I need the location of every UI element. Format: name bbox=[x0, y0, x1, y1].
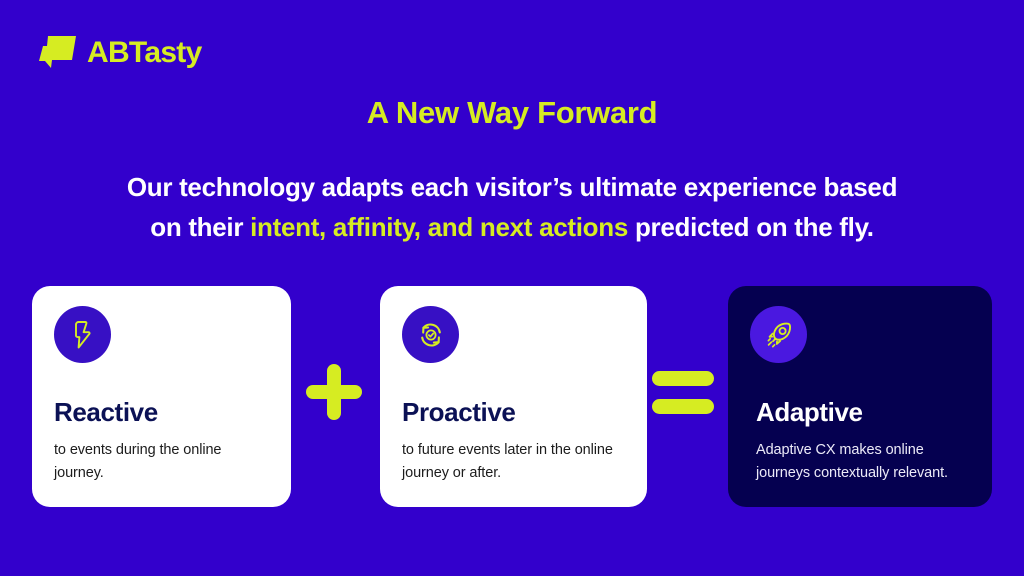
card-title: Reactive bbox=[54, 397, 269, 428]
card-body: to future events later in the online jou… bbox=[402, 439, 625, 485]
subheadline-prefix: on their bbox=[150, 212, 250, 242]
card-body: to events during the online journey. bbox=[54, 439, 269, 485]
card-reactive: Reactive to events during the online jou… bbox=[32, 286, 291, 507]
card-body: Adaptive CX makes online journeys contex… bbox=[750, 439, 970, 485]
subheadline-line-1: Our technology adapts each visitor’s ult… bbox=[0, 168, 1024, 208]
equals-bottom-bar bbox=[652, 399, 714, 414]
refresh-check-icon bbox=[402, 306, 459, 363]
brand-logo: ABTasty bbox=[36, 33, 202, 73]
equals-top-bar bbox=[652, 371, 714, 386]
plus-operator-icon bbox=[296, 356, 372, 428]
subheadline: Our technology adapts each visitor’s ult… bbox=[0, 168, 1024, 247]
card-title: Proactive bbox=[402, 397, 625, 428]
page-title: A New Way Forward bbox=[0, 95, 1024, 131]
equals-operator-icon bbox=[642, 358, 724, 426]
card-title: Adaptive bbox=[750, 397, 970, 428]
abtasty-flag-mark-icon bbox=[36, 33, 78, 73]
subheadline-suffix: predicted on the fly. bbox=[628, 212, 874, 242]
card-adaptive: Adaptive Adaptive CX makes online journe… bbox=[728, 286, 992, 507]
subheadline-accent: intent, affinity, and next actions bbox=[250, 212, 628, 242]
rocket-icon bbox=[750, 306, 807, 363]
concept-card-row: Reactive to events during the online jou… bbox=[32, 286, 992, 507]
brand-name: ABTasty bbox=[87, 38, 202, 68]
plus-vertical-bar bbox=[327, 364, 341, 420]
card-proactive: Proactive to future events later in the … bbox=[380, 286, 647, 507]
lightning-bolt-icon bbox=[54, 306, 111, 363]
subheadline-line-2: on their intent, affinity, and next acti… bbox=[0, 208, 1024, 248]
